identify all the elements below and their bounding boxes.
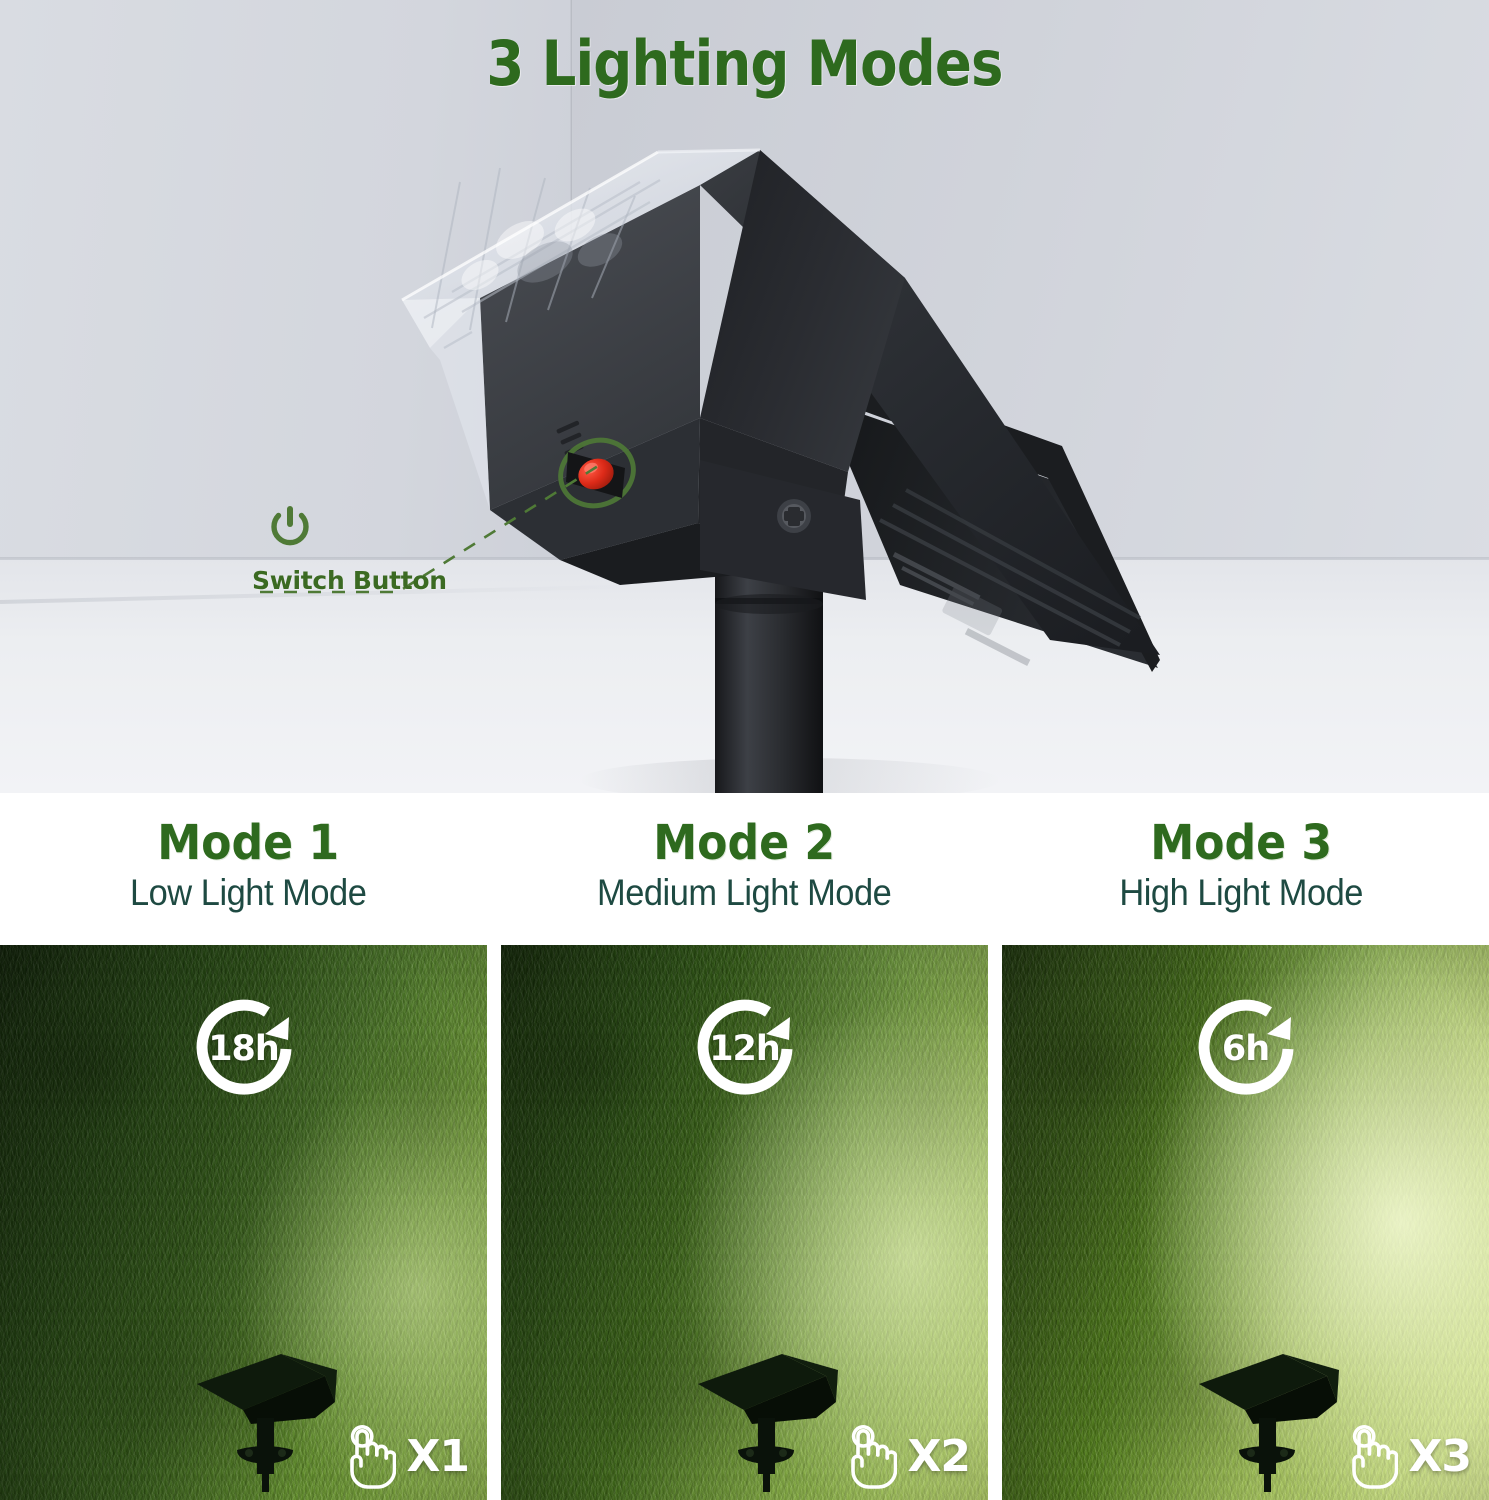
mode-subtitle-1: Low Light Mode: [17, 873, 479, 914]
click-count-3: X3: [1408, 1435, 1471, 1479]
hand-click-icon: [338, 1424, 396, 1490]
mode-photo-1: 18h X1: [0, 945, 487, 1500]
click-indicator-3: X3: [1340, 1424, 1471, 1490]
power-icon: [266, 503, 314, 551]
infographic-page: Switch Button Mode 1 Low Light Mode Mode…: [0, 0, 1489, 1500]
mode-title-2: Mode 2: [516, 818, 973, 868]
switch-button-callout: Switch Button: [252, 503, 482, 595]
mode-subtitle-2: Medium Light Mode: [514, 873, 976, 914]
click-count-1: X1: [406, 1435, 469, 1479]
callout-label: Switch Button: [252, 566, 482, 595]
hand-click-icon: [839, 1424, 897, 1490]
timer-duration-1: 18h: [185, 990, 303, 1108]
mode-headers-row: Mode 1 Low Light Mode Mode 2 Medium Ligh…: [0, 793, 1489, 945]
mode-photo-panels: 18h X1: [0, 945, 1489, 1500]
timer-duration-3: 6h: [1187, 990, 1305, 1108]
mode-subtitle-3: High Light Mode: [1010, 873, 1472, 914]
mode-header-1: Mode 1 Low Light Mode: [0, 793, 496, 945]
timer-duration-2: 12h: [686, 990, 804, 1108]
page-title: 3 Lighting Modes: [89, 27, 1399, 100]
click-indicator-2: X2: [839, 1424, 970, 1490]
timer-badge-2: 12h: [686, 990, 804, 1108]
mode-title-3: Mode 3: [1013, 818, 1470, 868]
click-indicator-1: X1: [338, 1424, 469, 1490]
click-count-2: X2: [907, 1435, 970, 1479]
mode-title-1: Mode 1: [20, 818, 477, 868]
timer-badge-3: 6h: [1187, 990, 1305, 1108]
mode-header-3: Mode 3 High Light Mode: [993, 793, 1489, 945]
mode-photo-3: 6h X3: [1002, 945, 1489, 1500]
mode-photo-2: 12h X2: [501, 945, 988, 1500]
timer-badge-1: 18h: [185, 990, 303, 1108]
mode-header-2: Mode 2 Medium Light Mode: [496, 793, 992, 945]
hero-product-photo: Switch Button: [0, 0, 1489, 793]
hand-click-icon: [1340, 1424, 1398, 1490]
